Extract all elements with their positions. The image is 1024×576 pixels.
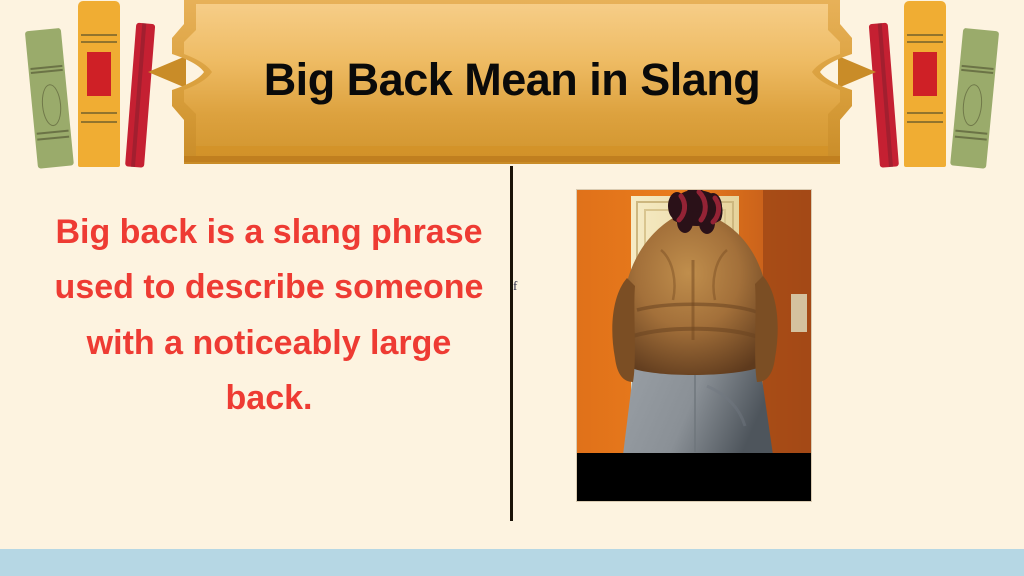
caption-text: Big back is a slang phrase used to descr… <box>48 205 490 427</box>
person-back-photo-icon <box>577 190 811 501</box>
vertical-divider <box>510 166 513 521</box>
bottom-accent-bar <box>0 549 1024 576</box>
book-orange-icon <box>904 1 946 167</box>
title-banner: Big Back Mean in Slang <box>148 0 876 166</box>
banner-plaque-icon <box>148 0 876 166</box>
stray-glyph-artifact: f <box>513 278 517 294</box>
slide-canvas: Big Back Mean in Slang f Big back is a s… <box>0 0 1024 576</box>
illustration-photo <box>577 190 811 501</box>
book-green-icon <box>25 28 74 169</box>
book-orange-icon <box>78 1 120 167</box>
book-green-icon <box>950 28 999 169</box>
